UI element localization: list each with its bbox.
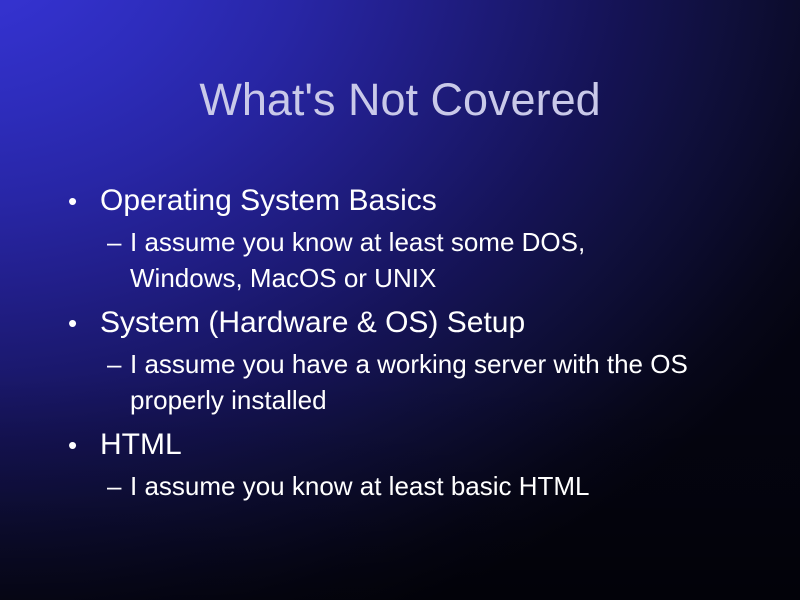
bullet-item-level2: – I assume you know at least basic HTML — [0, 468, 800, 504]
bullet-level1-label: System (Hardware & OS) Setup — [100, 306, 525, 339]
bullet-dot-icon: • — [68, 302, 88, 344]
slide-title: What's Not Covered — [0, 74, 800, 126]
bullet-dot-icon: • — [68, 180, 88, 222]
bullet-item-level1: • Operating System Basics — [0, 180, 800, 222]
bullet-dash-icon: – — [107, 224, 129, 260]
bullet-group-1: • Operating System Basics – I assume you… — [0, 180, 800, 296]
bullet-item-level2: – I assume you have a working server wit… — [0, 346, 800, 418]
bullet-level2-label: I assume you know at least basic HTML — [130, 468, 702, 504]
bullet-dash-icon: – — [107, 346, 129, 382]
bullet-item-level2: – I assume you know at least some DOS, W… — [0, 224, 800, 296]
bullet-dot-icon: • — [68, 424, 88, 466]
slide-body-content: • Operating System Basics – I assume you… — [0, 180, 800, 510]
bullet-level1-label: HTML — [100, 428, 182, 461]
bullet-dash-icon: – — [107, 468, 129, 504]
bullet-group-2: • System (Hardware & OS) Setup – I assum… — [0, 302, 800, 418]
bullet-level2-label: I assume you have a working server with … — [130, 346, 702, 418]
bullet-level1-label: Operating System Basics — [100, 184, 437, 217]
bullet-group-3: • HTML – I assume you know at least basi… — [0, 424, 800, 504]
bullet-item-level1: • System (Hardware & OS) Setup — [0, 302, 800, 344]
bullet-item-level1: • HTML — [0, 424, 800, 466]
presentation-slide: What's Not Covered • Operating System Ba… — [0, 0, 800, 600]
bullet-level2-label: I assume you know at least some DOS, Win… — [130, 224, 702, 296]
